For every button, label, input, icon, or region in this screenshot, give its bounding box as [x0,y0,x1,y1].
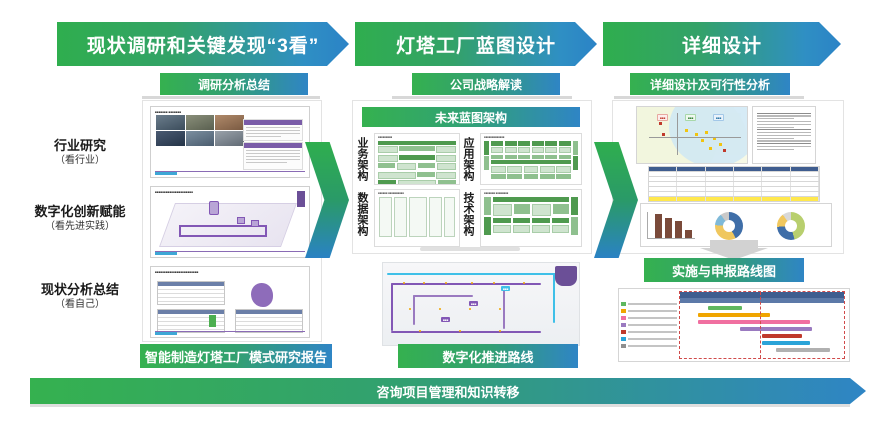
phase-3-subtitle: 详细设计及可行性分析 [650,76,770,93]
photo-grid [156,115,244,146]
callout-box-1 [243,119,303,141]
flow-line-2 [179,235,267,237]
donut-chart-1 [715,212,743,240]
phase-1-subtitle: 调研分析总结 [198,76,270,93]
arch-label-application: 应用架构 [462,137,474,181]
row-label-innovation-sub: （看先进实践） [20,220,140,234]
phase-2-title: 灯塔工厂蓝图设计 [396,31,556,58]
thumbnail-status-summary[interactable]: ■■■■■■■■■■■■■■■■■■■■■■■■ [150,266,310,338]
page-tab [155,332,177,335]
flow-line-3 [179,225,181,235]
thumbnail-gantt-chart[interactable] [618,288,850,362]
row-label-status-main: 现状分析总结 [20,281,140,298]
phase-3-subtitle-bar[interactable]: 详细设计及可行性分析 [630,73,790,95]
slide-canvas: 现状调研和关键发现“3看” 灯塔工厂蓝图设计 详细设计 调研分析总结 公司战略解… [0,0,894,428]
phase-3-deliverable-label: 实施与申报路线图 [672,261,776,280]
divider-phase-1 [142,96,320,99]
thumbnail-quadrant-chart[interactable]: ■■■ ■■■ ■■■ [636,106,748,164]
flow-node-tank [209,201,219,215]
phase-1-deliverable-label: 智能制造灯塔工厂模式研究报告 [145,347,327,366]
thumbnail-business-architecture[interactable]: ■■■■■■■■■ [374,133,460,185]
accent-rule [155,171,305,172]
flow-line-4 [265,225,267,235]
phase-1-title: 现状调研和关键发现“3看” [87,31,320,58]
footer-label: 咨询项目管理和知识转移 [376,382,519,401]
thumbnail-digital-innovation-title: ■■■■■■■■■■■■■■■■■■■■■ [151,187,309,195]
thumbnail-budget-table[interactable] [648,166,820,202]
phase-2-deliverable-bar[interactable]: 数字化推进路线 [398,344,578,368]
footer-shadow [30,404,850,407]
mini-table-1 [157,281,225,305]
thumbnail-text-document[interactable] [752,106,816,164]
page-tab [155,172,177,175]
donut-chart-2 [777,212,805,240]
panel-shadow [420,247,520,251]
corner-marker [297,191,305,207]
page-tab [155,252,177,255]
thumbnail-industry-research[interactable]: ■■■■■■■ ■■■■■■■ [150,106,310,178]
flow-node-1 [237,217,245,224]
phase-1-subtitle-bar[interactable]: 调研分析总结 [160,73,308,95]
thumbnail-application-architecture[interactable]: ■■■■■■■■■■■■■ [480,133,582,185]
phase-1-deliverable-bar[interactable]: 智能制造灯塔工厂模式研究报告 [140,344,332,368]
thumbnail-roadmap-map[interactable]: ■■■ ■■■ ■■■ [382,262,580,346]
mini-table-3 [235,309,303,333]
phase-1-title-banner[interactable]: 现状调研和关键发现“3看” [57,22,349,66]
row-label-industry-main: 行业研究 [20,137,140,154]
phase-3-title: 详细设计 [682,31,762,58]
arch-label-business: 业务架构 [356,137,368,181]
bar-chart [655,214,692,238]
row-label-innovation-main: 数字化创新赋能 [20,203,140,220]
row-label-industry-sub: （看行业） [20,154,140,168]
phase-2-title-banner[interactable]: 灯塔工厂蓝图设计 [355,22,597,66]
future-blueprint-header[interactable]: 未来蓝图架构 [362,107,580,127]
flow-node-2 [251,220,259,227]
footer-banner[interactable]: 咨询项目管理和知识转移 [30,378,866,404]
gantt-task-list [621,301,677,350]
accent-rule [155,251,305,252]
row-label-industry: 行业研究 （看行业） [20,137,140,168]
row-label-status-sub: （看自己） [20,298,140,312]
phase-3-deliverable-bar[interactable]: 实施与申报路线图 [644,258,804,282]
green-accent-block [209,315,216,327]
arch-label-technology: 技术架构 [462,192,474,236]
pie-blob [251,283,273,307]
divider-phase-3 [614,96,804,99]
thumbnail-digital-innovation[interactable]: ■■■■■■■■■■■■■■■■■■■■■ [150,186,310,258]
thumbnail-technology-architecture[interactable]: ■■■■■■■ ■■■■■■■■ [480,189,582,247]
phase-2-deliverable-label: 数字化推进路线 [442,347,533,366]
thumbnail-industry-research-title: ■■■■■■■ ■■■■■■■ [151,107,309,115]
arch-label-data: 数据架构 [356,192,368,236]
row-label-status: 现状分析总结 （看自己） [20,281,140,312]
gantt-timeline [679,291,845,359]
phase-3-title-banner[interactable]: 详细设计 [603,22,841,66]
row-label-innovation: 数字化创新赋能 （看先进实践） [20,203,140,234]
divider-phase-2 [392,96,572,99]
thumbnail-data-architecture[interactable]: ■■■■■■ ■■■■■■■■■■ [374,189,460,247]
thumbnail-status-summary-title: ■■■■■■■■■■■■■■■■■■■■■■■■ [151,267,309,275]
phase-2-subtitle-bar[interactable]: 公司战略解读 [412,73,560,95]
phase-2-subtitle: 公司战略解读 [450,76,522,93]
quadrant-plot-area: ■■■ ■■■ ■■■ [649,113,741,155]
callout-box-2 [243,142,303,170]
future-blueprint-label: 未来蓝图架构 [435,109,507,126]
accent-rule [155,331,305,332]
